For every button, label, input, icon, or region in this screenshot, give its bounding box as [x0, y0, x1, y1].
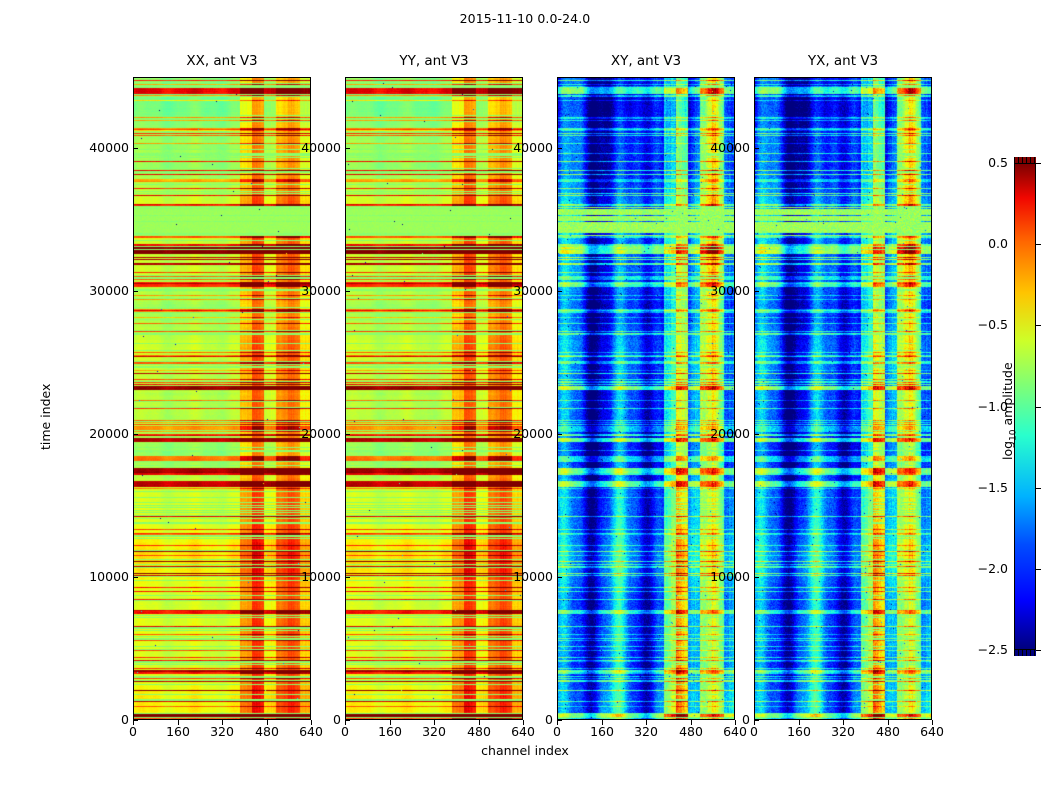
colorbar-tick — [1036, 569, 1041, 570]
y-tick-label: 10000 — [49, 569, 129, 584]
colorbar-tick-label: −1.5 — [948, 480, 1008, 495]
colorbar-tick — [1036, 650, 1041, 651]
y-tick — [754, 577, 759, 578]
y-tick — [754, 720, 759, 721]
colorbar-tick — [1036, 488, 1041, 489]
y-tick-label: 40000 — [473, 140, 553, 155]
y-tick-label: 40000 — [49, 140, 129, 155]
waterfall-panel-xy[interactable] — [557, 77, 735, 720]
panel-title-xx: XX, ant V3 — [133, 53, 311, 71]
y-tick — [754, 434, 759, 435]
y-tick — [133, 291, 138, 292]
panel-title-yx: YX, ant V3 — [754, 53, 932, 71]
y-tick-label: 20000 — [473, 426, 553, 441]
x-tick-label: 640 — [902, 724, 962, 739]
y-tick-label: 10000 — [670, 569, 750, 584]
y-tick — [557, 148, 562, 149]
x-axis-label: channel index — [0, 743, 1050, 758]
waterfall-panel-xx[interactable] — [133, 77, 311, 720]
y-tick-label: 0 — [261, 712, 341, 727]
panel-title-xy: XY, ant V3 — [557, 53, 735, 71]
figure-canvas: 2015-11-10 0.0-24.0 XX, ant V3 YY, ant V… — [0, 0, 1050, 800]
y-tick — [345, 291, 350, 292]
y-tick — [345, 148, 350, 149]
colorbar-tick-label: −0.5 — [948, 317, 1008, 332]
y-tick-label: 30000 — [261, 283, 341, 298]
y-tick-label: 40000 — [261, 140, 341, 155]
figure-suptitle: 2015-11-10 0.0-24.0 — [0, 11, 1050, 26]
y-tick — [557, 291, 562, 292]
y-tick — [133, 577, 138, 578]
y-tick-label: 0 — [473, 712, 553, 727]
colorbar-extend-bottom — [1014, 650, 1036, 656]
y-tick — [557, 720, 562, 721]
colorbar-tick-label: −1.0 — [948, 399, 1008, 414]
y-tick-label: 40000 — [670, 140, 750, 155]
y-tick — [133, 434, 138, 435]
y-tick-label: 20000 — [49, 426, 129, 441]
y-tick-label: 30000 — [49, 283, 129, 298]
colorbar-tick — [1036, 163, 1041, 164]
colorbar-tick — [1036, 325, 1041, 326]
y-tick — [557, 577, 562, 578]
y-tick-label: 20000 — [261, 426, 341, 441]
y-tick — [133, 720, 138, 721]
panel-title-yy: YY, ant V3 — [345, 53, 523, 71]
colorbar-tick — [1036, 407, 1041, 408]
y-tick — [754, 291, 759, 292]
y-tick-label: 10000 — [473, 569, 553, 584]
colorbar-tick-label: −2.0 — [948, 561, 1008, 576]
y-tick-label: 10000 — [261, 569, 341, 584]
y-tick — [345, 720, 350, 721]
y-tick-label: 30000 — [670, 283, 750, 298]
colorbar-tick-label: −2.5 — [948, 642, 1008, 657]
y-tick-label: 0 — [670, 712, 750, 727]
y-tick-label: 30000 — [473, 283, 553, 298]
y-tick-label: 20000 — [670, 426, 750, 441]
y-tick — [133, 148, 138, 149]
y-tick — [557, 434, 562, 435]
colorbar-tick-label: 0.5 — [948, 155, 1008, 170]
colorbar-tick-label: 0.0 — [948, 236, 1008, 251]
waterfall-panel-yx[interactable] — [754, 77, 932, 720]
y-tick — [345, 434, 350, 435]
colorbar-tick — [1036, 244, 1041, 245]
y-tick — [754, 148, 759, 149]
y-tick — [345, 577, 350, 578]
y-tick-label: 0 — [49, 712, 129, 727]
waterfall-panel-yy[interactable] — [345, 77, 523, 720]
